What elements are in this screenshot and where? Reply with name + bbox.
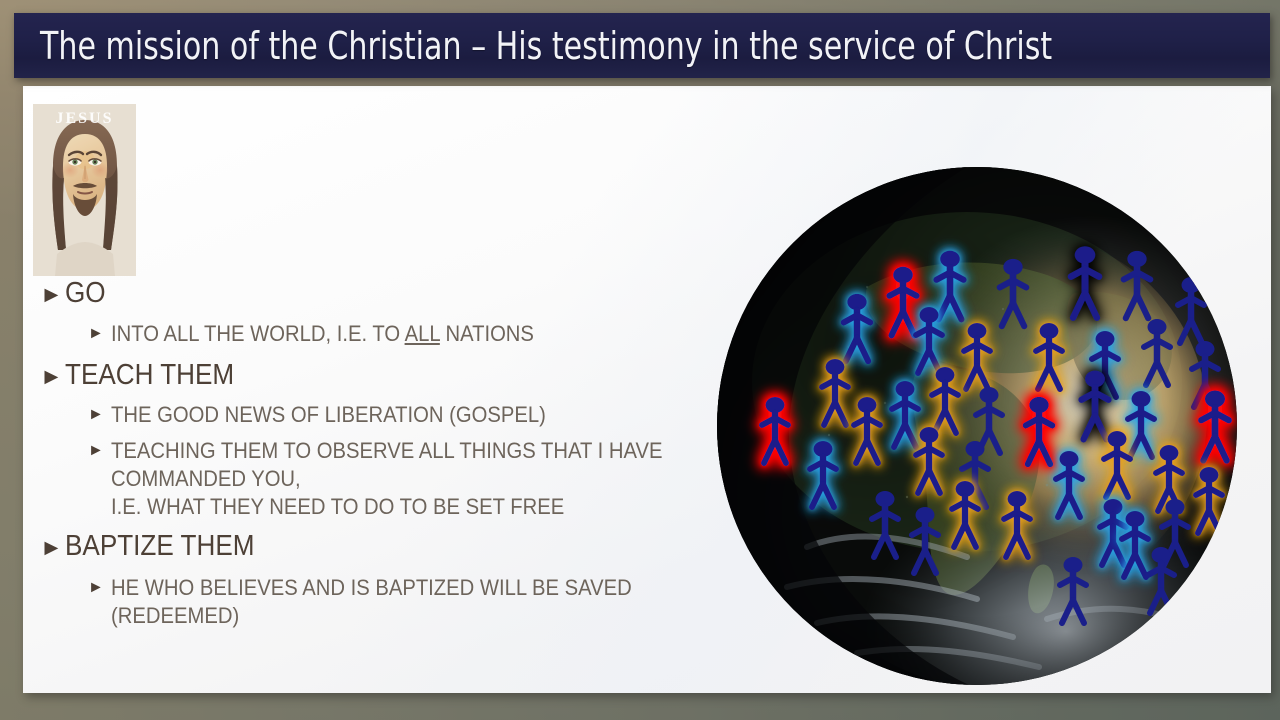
outline-level2-go-1: ► INTO ALL THE WORLD, I.E. TO ALL NATION… (88, 320, 571, 348)
bullet-triangle-icon: ► (88, 407, 104, 423)
outline-level2-label: THE GOOD NEWS OF LIBERATION (GOSPEL) (111, 401, 546, 429)
jesus-portrait-icon (33, 104, 136, 276)
slide-stage: The mission of the Christian – His testi… (0, 0, 1280, 720)
bullet-triangle-icon: ► (88, 443, 104, 459)
outline-level2-label: HE WHO BELIEVES AND IS BAPTIZED WILL BE … (111, 574, 708, 630)
bullet-triangle-icon: ► (88, 580, 104, 596)
bullet-triangle-icon: ► (40, 536, 63, 559)
outline-level1-label: GO (65, 278, 106, 308)
outline-level2-teach-2: ► TEACHING THEM TO OBSERVE ALL THINGS TH… (88, 437, 710, 521)
jesus-picture: JESUS (33, 104, 136, 276)
bullet-triangle-icon: ► (88, 326, 104, 342)
outline-level1-baptize-them: ► BAPTIZE THEM (40, 531, 275, 561)
jesus-picture-label: JESUS (33, 110, 136, 128)
slide-title: The mission of the Christian – His testi… (40, 27, 1052, 65)
outline-level2-label: INTO ALL THE WORLD, I.E. TO ALL NATIONS (111, 320, 534, 348)
outline-level2-label: TEACHING THEM TO OBSERVE ALL THINGS THAT… (111, 437, 663, 521)
emphasis-all: ALL (404, 321, 439, 346)
slide-title-bar: The mission of the Christian – His testi… (14, 13, 1270, 78)
outline-level1-teach-them: ► TEACH THEM (40, 360, 253, 390)
stick-figures-overlay (717, 167, 1237, 685)
globe-sphere (717, 167, 1237, 685)
bullet-triangle-icon: ► (40, 365, 63, 388)
outline-level1-label: BAPTIZE THEM (65, 531, 255, 561)
globe-image (695, 145, 1255, 690)
outline-level2-teach-1: ► THE GOOD NEWS OF LIBERATION (GOSPEL) (88, 401, 584, 429)
bullet-triangle-icon: ► (40, 283, 63, 306)
outline-level1-go: ► GO (40, 278, 110, 308)
outline-level2-baptize-1: ► HE WHO BELIEVES AND IS BAPTIZED WILL B… (88, 574, 760, 630)
outline-level1-label: TEACH THEM (65, 360, 234, 390)
